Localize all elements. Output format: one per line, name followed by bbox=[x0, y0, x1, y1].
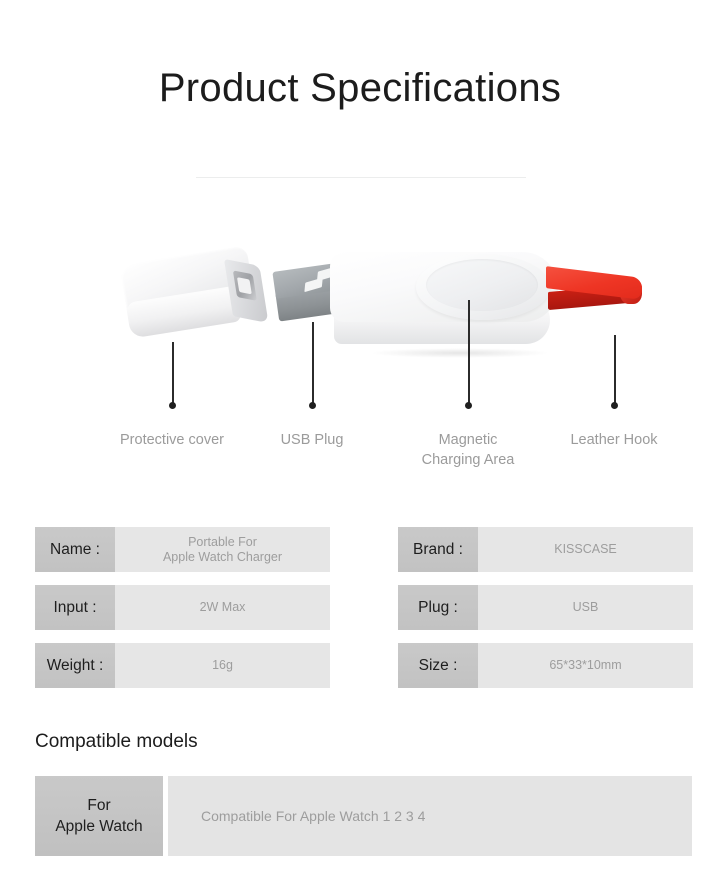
callout-label-leather-hook: Leather Hook bbox=[548, 430, 680, 450]
spec-value-input: 2W Max bbox=[115, 585, 330, 630]
spec-row-size: Size : 65*33*10mm bbox=[398, 643, 693, 688]
spec-label-size: Size : bbox=[398, 643, 478, 688]
callout-dot-usb-plug bbox=[309, 402, 316, 409]
callout-dot-leather-hook bbox=[611, 402, 618, 409]
spec-row-brand: Brand : KISSCASE bbox=[398, 527, 693, 572]
spec-value-weight: 16g bbox=[115, 643, 330, 688]
magnetic-charging-disc-inner bbox=[426, 259, 538, 311]
callout-line-magnetic-charging-area bbox=[468, 300, 470, 404]
callout-label-usb-plug: USB Plug bbox=[252, 430, 372, 450]
spec-label-input: Input : bbox=[35, 585, 115, 630]
specifications-column-left: Name : Portable For Apple Watch Charger … bbox=[35, 527, 330, 688]
spec-label-plug: Plug : bbox=[398, 585, 478, 630]
compatible-models-value: Compatible For Apple Watch 1 2 3 4 bbox=[168, 776, 692, 856]
product-illustration bbox=[0, 230, 720, 420]
spec-value-name: Portable For Apple Watch Charger bbox=[115, 527, 330, 572]
spec-label-weight: Weight : bbox=[35, 643, 115, 688]
spec-value-brand: KISSCASE bbox=[478, 527, 693, 572]
compatible-models-heading: Compatible models bbox=[35, 731, 198, 753]
callout-line-leather-hook bbox=[614, 335, 616, 404]
spec-row-name: Name : Portable For Apple Watch Charger bbox=[35, 527, 330, 572]
spec-value-plug: USB bbox=[478, 585, 693, 630]
specifications-column-right: Brand : KISSCASE Plug : USB Size : 65*33… bbox=[398, 527, 693, 688]
compatible-models-label: For Apple Watch bbox=[35, 776, 163, 856]
callout-dot-magnetic-charging-area bbox=[465, 402, 472, 409]
title-divider bbox=[196, 177, 526, 178]
callout-line-usb-plug bbox=[312, 322, 314, 404]
callout-line-protective-cover bbox=[172, 342, 174, 404]
spec-row-input: Input : 2W Max bbox=[35, 585, 330, 630]
callout-dot-protective-cover bbox=[169, 402, 176, 409]
specifications-tables: Name : Portable For Apple Watch Charger … bbox=[35, 527, 693, 688]
charger-drop-shadow bbox=[370, 348, 550, 358]
spec-value-size: 65*33*10mm bbox=[478, 643, 693, 688]
leather-hook-graphic bbox=[546, 272, 646, 316]
protective-cover-graphic bbox=[120, 245, 259, 342]
spec-label-brand: Brand : bbox=[398, 527, 478, 572]
spec-row-weight: Weight : 16g bbox=[35, 643, 330, 688]
spec-label-name: Name : bbox=[35, 527, 115, 572]
page-title: Product Specifications bbox=[0, 66, 720, 111]
charger-body-graphic bbox=[330, 252, 558, 352]
spec-row-plug: Plug : USB bbox=[398, 585, 693, 630]
compatible-models-table: For Apple Watch Compatible For Apple Wat… bbox=[35, 776, 692, 856]
callout-label-protective-cover: Protective cover bbox=[92, 430, 252, 450]
callout-label-magnetic-charging-area: Magnetic Charging Area bbox=[396, 430, 540, 470]
